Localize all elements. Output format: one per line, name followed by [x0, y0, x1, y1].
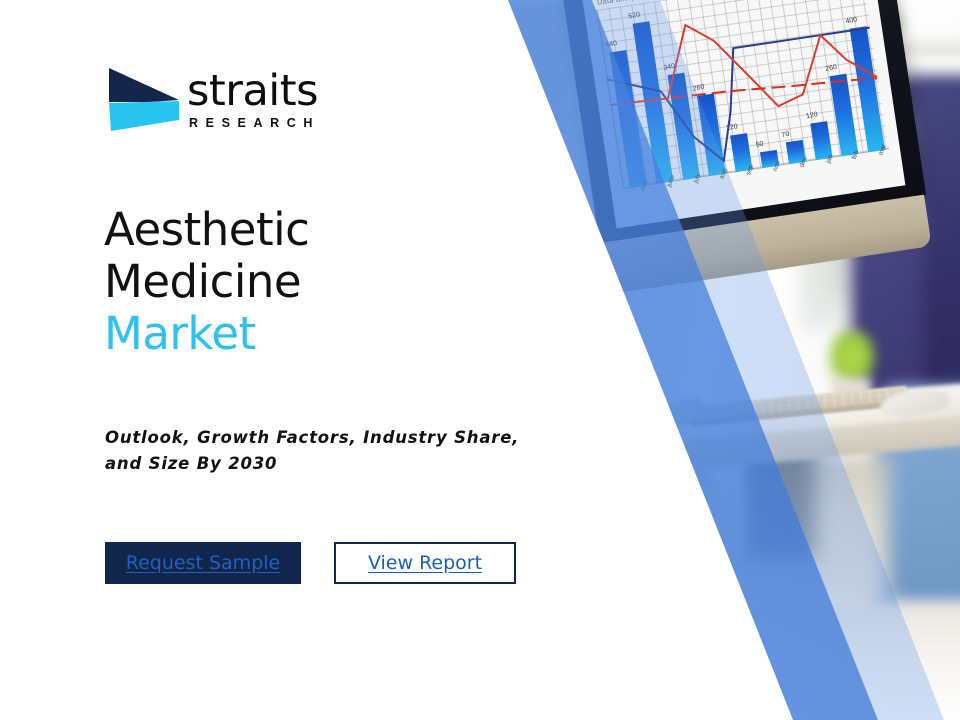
cta-button-row: Request Sample View Report — [105, 542, 516, 584]
view-report-button[interactable]: View Report — [334, 542, 516, 584]
desk-leg — [712, 455, 742, 630]
trend-line-red — [600, 0, 879, 131]
chart-month-label: sep — [745, 164, 755, 176]
page-title: Aesthetic Medicine Market — [104, 204, 524, 360]
headline-line-3: Market — [104, 308, 524, 360]
chart-month-label: feb — [851, 149, 861, 160]
floor-area — [600, 600, 960, 720]
brand-logo[interactable]: straits RESEARCH — [105, 62, 315, 148]
chart-month-label: aug — [719, 168, 729, 181]
chart-trend-lines — [596, 0, 888, 189]
trend-line-navy — [605, 28, 886, 176]
marketing-banner: Data and prognosis of activity 440520340… — [0, 0, 960, 720]
request-sample-button[interactable]: Request Sample — [105, 542, 301, 584]
brand-name: straits — [187, 70, 318, 113]
brand-tagline: RESEARCH — [189, 116, 320, 130]
headline-line-1: Aesthetic — [104, 204, 524, 256]
page-subtitle: Outlook, Growth Factors, Industry Share,… — [105, 425, 545, 477]
headline-line-2: Medicine — [104, 256, 524, 308]
banner-content: straits RESEARCH Aesthetic Medicine Mark… — [0, 0, 540, 720]
computer-monitor: Data and prognosis of activity 440520340… — [560, 0, 937, 314]
chevron-arrow-logo-icon — [105, 62, 183, 134]
